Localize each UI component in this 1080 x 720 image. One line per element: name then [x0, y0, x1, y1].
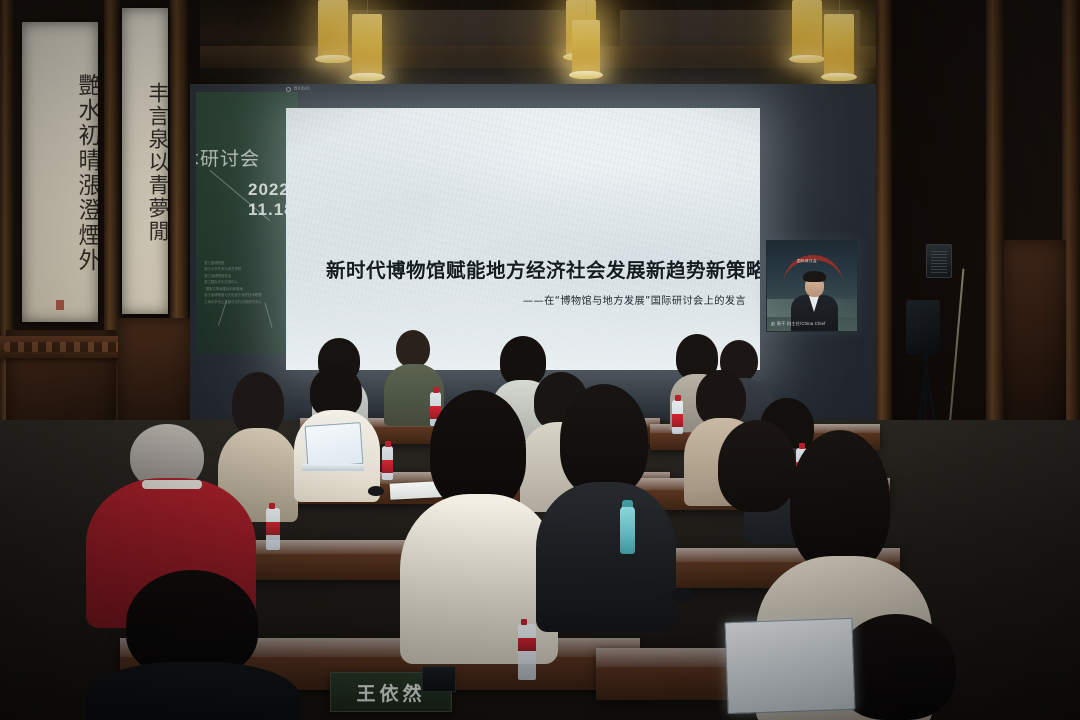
bottle-cap — [675, 395, 681, 401]
placard-device — [422, 666, 456, 692]
water-bottle — [672, 400, 683, 434]
person-torso — [536, 482, 676, 632]
placard-name: 王依然 — [356, 679, 425, 706]
conference-hall-photo: 艷水初晴漲澄煙外 丰言泉以青夢閒 术研讨会 2022 11.18 浙江省博物馆 … — [0, 0, 1080, 720]
pendant-lantern — [352, 14, 382, 76]
calligraphy-text: 丰言泉以青夢閒 — [122, 14, 168, 310]
bottle-cap — [433, 387, 439, 393]
banner-fine-print: 浙江省博物馆 浙江大学艺术与考古学院 浙江省博物馆学会 浙江国际文化交流中心 “… — [204, 260, 296, 305]
bottle-cap — [521, 619, 527, 625]
bottle-label — [518, 638, 536, 651]
person-hair — [790, 430, 890, 572]
broadcast-camera — [906, 300, 940, 354]
slide-title: 新时代博物馆赋能地方经济社会发展新趋势新策略 — [326, 254, 726, 283]
person-hair — [430, 390, 526, 510]
banner-year: 2022 — [248, 180, 290, 200]
pendant-lantern — [792, 0, 822, 58]
water-bottle — [518, 624, 536, 680]
bottle-label — [266, 522, 280, 535]
broadcast-watermark: Bilibili — [286, 86, 310, 92]
laptop-base — [302, 464, 364, 471]
pendant-lantern — [572, 20, 600, 74]
banner-title: 术研讨会 — [196, 144, 298, 171]
teal-thermos — [620, 506, 635, 554]
computer-mouse — [368, 486, 384, 496]
remote-speaker-hair — [803, 271, 826, 282]
lanyard — [142, 480, 202, 489]
person-hair — [232, 372, 284, 436]
water-bottle — [382, 446, 393, 480]
pendant-lantern — [824, 14, 854, 76]
laptop — [305, 422, 364, 468]
person-hair — [718, 420, 796, 512]
bottle-label — [382, 460, 393, 473]
watermark-dot-icon — [286, 87, 291, 92]
thermos-cap — [622, 500, 633, 507]
banner-pin-line — [264, 302, 272, 327]
computer-mouse — [672, 588, 694, 602]
wall-speaker — [926, 244, 952, 278]
carved-rail — [0, 336, 126, 358]
calligraphy-scroll-left: 艷水初晴漲澄煙外 — [22, 22, 98, 322]
laptop[interactable] — [724, 618, 855, 714]
projection-screen: 新时代博物馆赋能地方经济社会发展新趋势新策略 ——在“博物馆与地方发展”国际研讨… — [286, 108, 760, 370]
bottle-cap — [269, 503, 275, 509]
video-conference-monitor: 国际研讨会 赵 周干 科主任/China Chief — [766, 240, 858, 332]
bottle-cap — [799, 443, 805, 449]
person-head — [396, 330, 430, 368]
person-torso — [86, 662, 300, 720]
calligraphy-scroll-right: 丰言泉以青夢閒 — [122, 8, 168, 314]
person-hair — [500, 336, 546, 386]
red-seal — [56, 300, 64, 310]
watermark-label: Bilibili — [294, 86, 310, 92]
person-hair — [560, 384, 648, 496]
slide-subtitle: ——在“博物馆与地方发展”国际研讨会上的发言 — [346, 292, 746, 307]
video-backdrop-text: 国际研讨会 — [797, 259, 817, 264]
pendant-lantern — [318, 0, 348, 58]
video-caption: 赵 周干 科主任/China Chief — [771, 321, 826, 327]
bottle-label — [672, 414, 683, 427]
bottle-cap — [385, 441, 391, 447]
water-bottle — [266, 508, 280, 550]
calligraphy-text: 艷水初晴漲澄煙外 — [22, 28, 98, 318]
event-banner: 术研讨会 2022 11.18 浙江省博物馆 浙江大学艺术与考古学院 浙江省博物… — [196, 92, 298, 354]
wall-wood-panel — [1004, 240, 1066, 440]
